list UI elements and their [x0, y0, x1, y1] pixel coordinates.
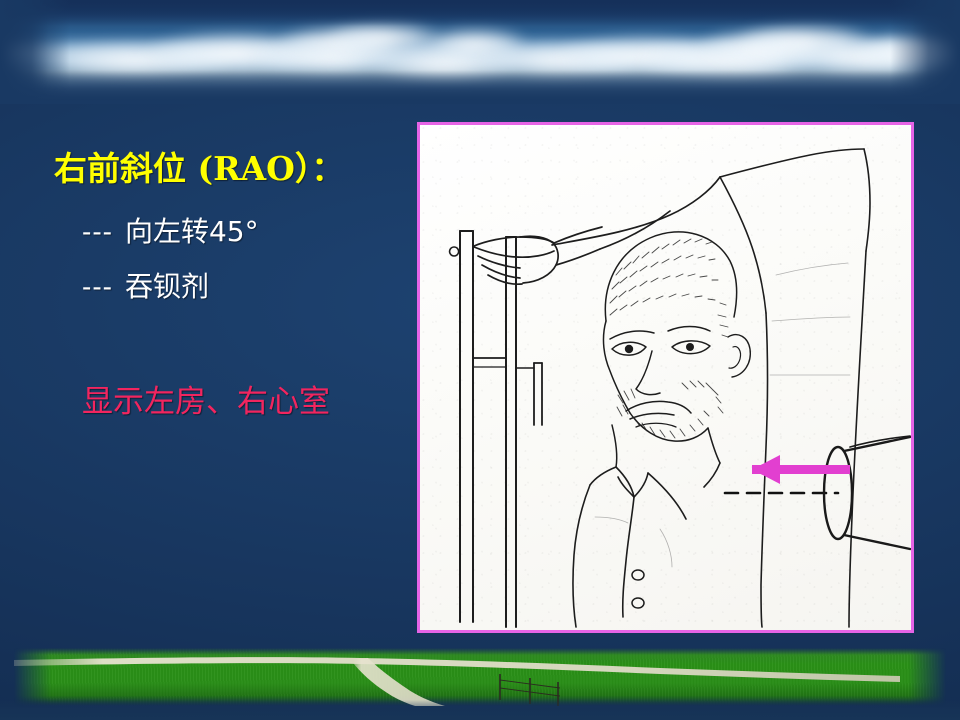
figure-frame — [417, 122, 914, 633]
grass-banner — [0, 630, 960, 720]
slide-canvas: 右前斜位 (RAO）： ---向左转45° ---吞钡剂 显示左房、右心室 — [0, 0, 960, 720]
body-shading — [595, 263, 850, 567]
bullet-label: 吞钡剂 — [125, 270, 209, 303]
patient-body-outline — [720, 149, 870, 627]
cloud-fade-bottom — [0, 70, 960, 104]
page-title-colon: ： — [311, 149, 344, 188]
page-title-latin: (RAO） — [198, 149, 312, 188]
bullet-dash: --- — [82, 216, 113, 247]
page-title-cjk: 右前斜位 — [54, 149, 198, 188]
page-title: 右前斜位 (RAO）： — [54, 142, 344, 190]
grass-bottom-fade — [0, 700, 960, 720]
cloud-fade-right — [890, 0, 960, 104]
cloud-banner — [0, 0, 960, 104]
bullet-label: 向左转45° — [125, 215, 259, 248]
bullet-item-2: ---吞钡剂 — [82, 265, 209, 305]
patient-arm — [474, 177, 720, 284]
beam-direction-arrow — [752, 455, 850, 484]
cloud-fade-top — [0, 0, 960, 26]
bullet-dash: --- — [82, 271, 113, 302]
fluoroscopy-stand — [450, 231, 542, 627]
highlight-text: 显示左房、右心室 — [82, 376, 330, 421]
patient-torso — [573, 463, 720, 627]
cloud-fade-left — [0, 0, 70, 104]
bullet-item-1: ---向左转45° — [82, 210, 259, 250]
rao-position-line-drawing — [420, 125, 911, 630]
